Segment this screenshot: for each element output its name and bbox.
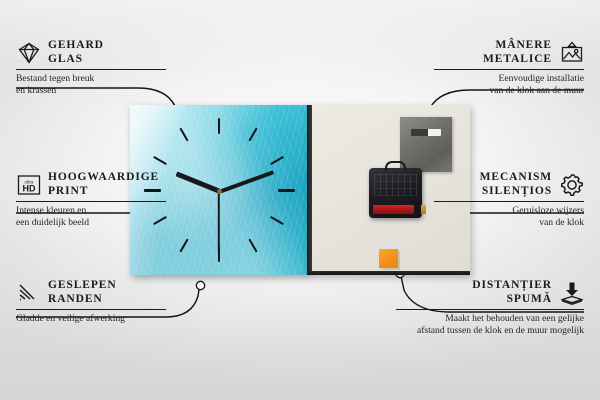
foam-spacer [379, 249, 398, 268]
hanger-keyhole-slot [411, 129, 441, 136]
feature-body: Intense kleuren en een duidelijk beeld [16, 205, 166, 230]
feature-divider [16, 201, 166, 202]
feature-geslepen-randen: GESLEPEN RANDEN Gladde en veilige afwerk… [16, 278, 166, 325]
panel-bottom-edge [307, 271, 470, 275]
feature-header: DISTANȚIER SPUMĂ [396, 278, 584, 306]
infographic-canvas: GEHARD GLAS Bestand tegen breuk en krass… [0, 0, 600, 400]
feature-header: MECANISM SILENȚIOS [434, 170, 584, 198]
aa-battery [373, 205, 414, 214]
feature-body: Maakt het behouden van een gelijke afsta… [396, 313, 584, 338]
metal-hanger-plate [400, 117, 452, 172]
leader-dot-geslepen-randen [196, 281, 204, 289]
feature-title: DISTANȚIER SPUMĂ [472, 278, 552, 306]
feature-divider [434, 201, 584, 202]
clock-tick-12 [218, 118, 220, 134]
quartz-movement-mechanism [369, 168, 422, 218]
clock-tick-3 [278, 189, 295, 192]
mechanism-vent-grid [374, 174, 417, 196]
mechanism-hanger-loop [385, 161, 406, 171]
feature-hoogwaardige-print: ultra HD HOOGWAARDIGE PRINT Intense kleu… [16, 170, 166, 230]
clock-second-hand [218, 191, 220, 253]
feature-header: GESLEPEN RANDEN [16, 278, 166, 306]
feature-body: Gladde en veilige afwerking [16, 313, 166, 325]
feature-title: GESLEPEN RANDEN [48, 278, 117, 306]
battery-terminal [421, 205, 426, 214]
feature-title: MÂNERE METALICE [483, 38, 552, 66]
feature-divider [16, 309, 166, 310]
feature-title: MECANISM SILENȚIOS [480, 170, 552, 198]
feature-manere-metalice: MÂNERE METALICE Eenvoudige installatie v… [434, 38, 584, 98]
feature-divider [396, 309, 584, 310]
feature-divider [434, 69, 584, 70]
feature-title: GEHARD GLAS [48, 38, 104, 66]
feature-body: Geruisloze wijzers van de klok [434, 205, 584, 230]
diamond-icon [16, 40, 41, 65]
feature-title: HOOGWAARDIGE PRINT [48, 170, 159, 198]
svg-text:HD: HD [23, 183, 36, 193]
panel-left-edge [307, 105, 312, 275]
gear-icon [559, 172, 584, 197]
feature-distantier-spuma: DISTANȚIER SPUMĂ Maakt het behouden van … [396, 278, 584, 338]
framed-picture-icon [559, 40, 584, 65]
clock-center-pin [217, 189, 222, 194]
feature-mecanism-silentios: MECANISM SILENȚIOS Geruisloze wijzers va… [434, 170, 584, 230]
feature-header: GEHARD GLAS [16, 38, 166, 66]
ultra-hd-icon: ultra HD [16, 172, 41, 197]
beveled-edges-icon [16, 280, 41, 305]
feature-gehard-glas: GEHARD GLAS Bestand tegen breuk en krass… [16, 38, 166, 98]
feature-header: ultra HD HOOGWAARDIGE PRINT [16, 170, 166, 198]
feature-body: Bestand tegen breuk en krassen [16, 73, 166, 98]
feature-header: MÂNERE METALICE [434, 38, 584, 66]
spacer-pad-icon [559, 280, 584, 305]
feature-body: Eenvoudige installatie van de klok aan d… [434, 73, 584, 98]
feature-divider [16, 69, 166, 70]
